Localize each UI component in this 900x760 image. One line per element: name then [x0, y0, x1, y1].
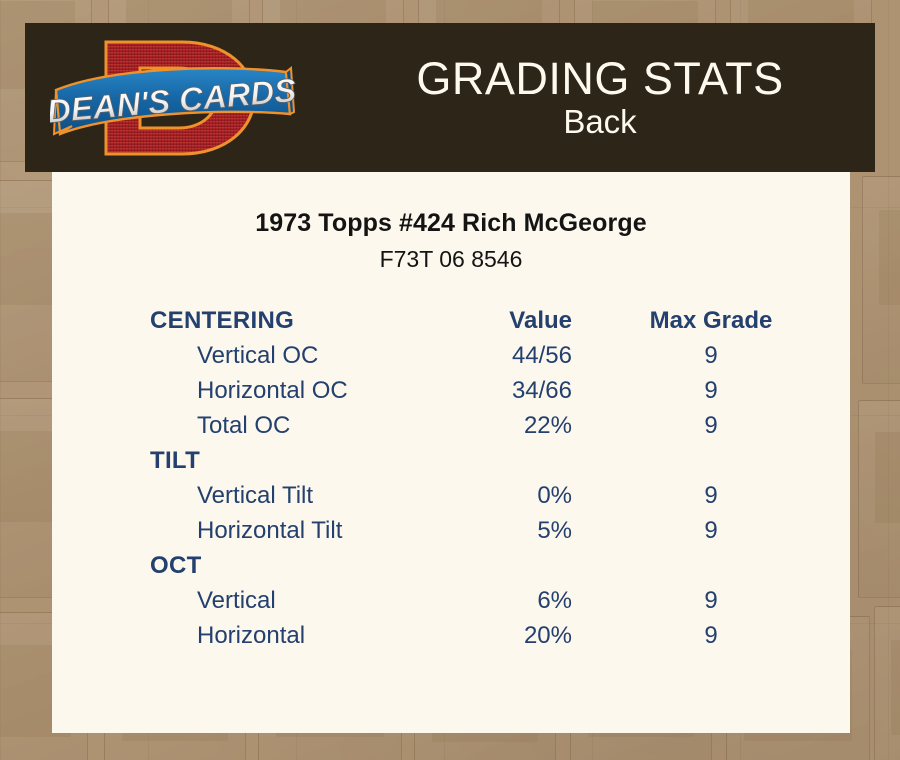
- row-value: 22%: [467, 412, 572, 440]
- table-header-row: CENTERING Value Max Grade: [52, 307, 850, 342]
- section-heading-oct: OCT: [52, 552, 467, 580]
- column-header-value: Value: [467, 307, 572, 335]
- table-row: Vertical OC 44/56 9: [52, 342, 850, 377]
- table-row: Total OC 22% 9: [52, 412, 850, 447]
- row-label: Vertical: [52, 587, 467, 615]
- row-max-grade: 9: [572, 377, 850, 405]
- card-serial-number: F73T 06 8546: [52, 246, 850, 273]
- section-heading-tilt: TILT: [52, 447, 467, 475]
- row-max-grade: 9: [572, 412, 850, 440]
- table-row: Horizontal 20% 9: [52, 622, 850, 657]
- row-label: Vertical Tilt: [52, 482, 467, 510]
- section-heading-centering: CENTERING: [52, 307, 467, 335]
- table-row: Horizontal Tilt 5% 9: [52, 517, 850, 552]
- table-row: Vertical Tilt 0% 9: [52, 482, 850, 517]
- row-label: Horizontal OC: [52, 377, 467, 405]
- content-panel: 1973 Topps #424 Rich McGeorge F73T 06 85…: [52, 172, 850, 733]
- row-label: Vertical OC: [52, 342, 467, 370]
- deans-cards-logo[interactable]: DEAN'S CARDS: [50, 28, 300, 168]
- row-max-grade: 9: [572, 517, 850, 545]
- background-card-thumbnail: [858, 400, 900, 598]
- page-subtitle: Back: [563, 104, 636, 140]
- row-label: Horizontal: [52, 622, 467, 650]
- row-max-grade: 9: [572, 587, 850, 615]
- background-card-thumbnail: [874, 606, 900, 760]
- header-title-block: GRADING STATS Back: [325, 23, 875, 172]
- row-label: Horizontal Tilt: [52, 517, 467, 545]
- section-heading-row: OCT: [52, 552, 850, 587]
- row-value: 20%: [467, 622, 572, 650]
- table-row: Vertical 6% 9: [52, 587, 850, 622]
- grading-stats-page: DEAN'S CARDS GRADING STATS Back 1973 Top…: [0, 0, 900, 760]
- background-card-thumbnail: [862, 176, 900, 384]
- grading-stats-table: CENTERING Value Max Grade Vertical OC 44…: [52, 307, 850, 657]
- column-header-max-grade: Max Grade: [572, 307, 850, 335]
- page-title: GRADING STATS: [416, 55, 783, 102]
- row-label: Total OC: [52, 412, 467, 440]
- row-value: 5%: [467, 517, 572, 545]
- row-value: 34/66: [467, 377, 572, 405]
- row-value: 0%: [467, 482, 572, 510]
- header-bar: DEAN'S CARDS GRADING STATS Back: [25, 23, 875, 172]
- row-value: 44/56: [467, 342, 572, 370]
- card-title: 1973 Topps #424 Rich McGeorge: [52, 209, 850, 238]
- row-max-grade: 9: [572, 342, 850, 370]
- row-max-grade: 9: [572, 622, 850, 650]
- row-value: 6%: [467, 587, 572, 615]
- section-heading-row: TILT: [52, 447, 850, 482]
- table-row: Horizontal OC 34/66 9: [52, 377, 850, 412]
- row-max-grade: 9: [572, 482, 850, 510]
